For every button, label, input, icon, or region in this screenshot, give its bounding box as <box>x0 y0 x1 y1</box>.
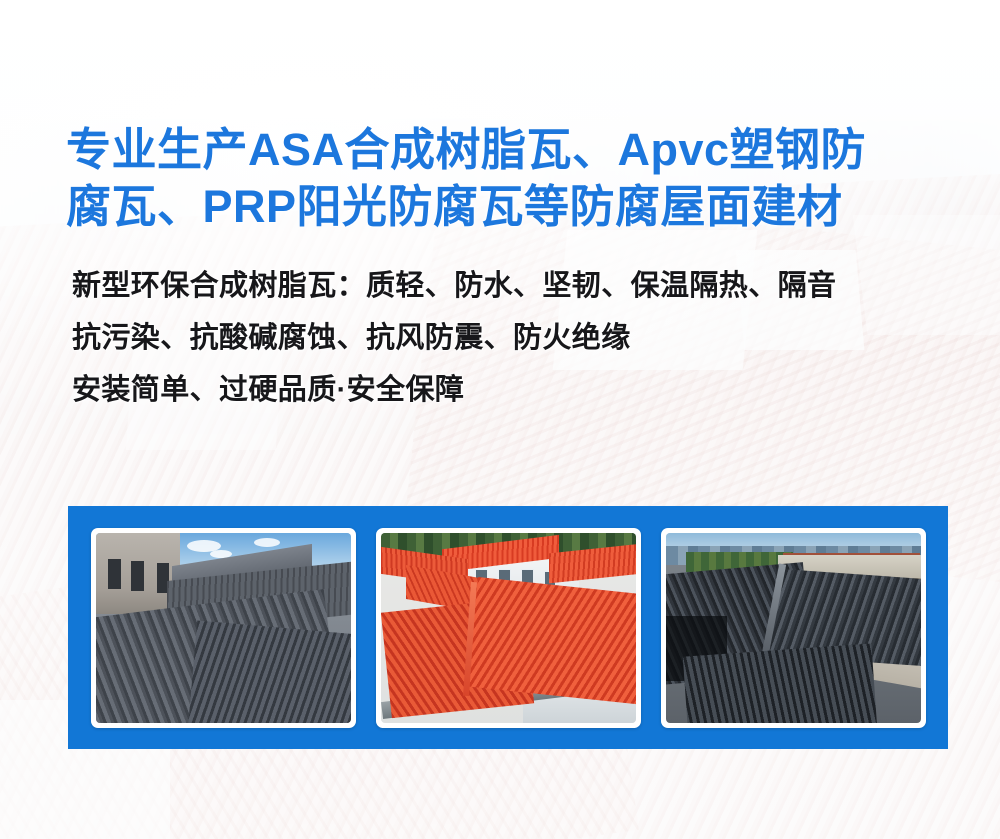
dark-tile-roof-image <box>666 533 921 723</box>
subcopy-line-3: 安装简单、过硬品质·安全保障 <box>72 376 962 405</box>
banner-subcopy: 新型环保合成树脂瓦：质轻、防水、坚韧、保温隔热、隔音 抗污染、抗酸碱腐蚀、抗风防… <box>72 272 962 405</box>
subcopy-line-1: 新型环保合成树脂瓦：质轻、防水、坚韧、保温隔热、隔音 <box>72 272 962 301</box>
product-banner: 专业生产ASA合成树脂瓦、Apvc塑钢防 腐瓦、PRP阳光防腐瓦等防腐屋面建材 … <box>0 0 1000 839</box>
grey-tile-roof-image <box>96 533 351 723</box>
subcopy-line-2: 抗污染、抗酸碱腐蚀、抗风防震、防火绝缘 <box>72 324 962 353</box>
photo2-main-roof-right <box>467 577 635 705</box>
banner-headline: 专业生产ASA合成树脂瓦、Apvc塑钢防 腐瓦、PRP阳光防腐瓦等防腐屋面建材 <box>66 122 946 235</box>
gallery-photo-1[interactable] <box>91 528 356 728</box>
photo-gallery-panel <box>68 506 948 749</box>
photo1-window <box>108 559 121 589</box>
photo3-front-roof <box>683 644 878 723</box>
gallery-photo-2[interactable] <box>376 528 641 728</box>
red-tile-roof-image <box>381 533 636 723</box>
photo1-roof-slope <box>188 620 351 723</box>
gallery-photo-3[interactable] <box>661 528 926 728</box>
photo1-window <box>131 561 144 591</box>
photo1-cloud <box>254 538 280 547</box>
